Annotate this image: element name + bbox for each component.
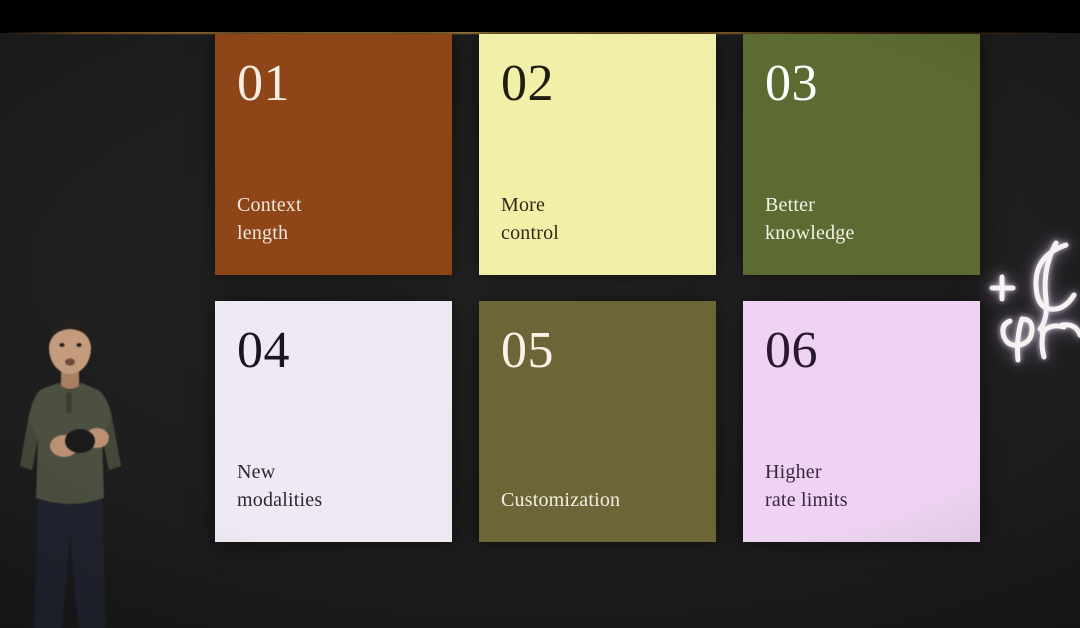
- presenter-trousers: [34, 494, 106, 628]
- presenter-placket: [66, 392, 72, 414]
- feature-card-grid: 01 Context length 02 More control 03 Bet…: [215, 34, 984, 542]
- card-label-05: Customization: [501, 486, 694, 522]
- presenter-right-eye: [76, 343, 81, 347]
- letterbox-top-bar: [0, 0, 1080, 32]
- card-number-02: 02: [501, 58, 694, 110]
- feature-card-05[interactable]: 05 Customization: [479, 301, 716, 542]
- card-label-02: More control: [501, 191, 694, 255]
- feature-card-06[interactable]: 06 Higher rate limits: [743, 301, 980, 542]
- slide-stage: 01 Context length 02 More control 03 Bet…: [0, 0, 1080, 628]
- presenter-mouth: [65, 358, 75, 365]
- presenter-figure: [2, 298, 142, 628]
- presenter-left-eye: [59, 343, 64, 347]
- card-label-03: Better knowledge: [765, 191, 958, 255]
- card-number-05: 05: [501, 325, 694, 377]
- feature-card-02[interactable]: 02 More control: [479, 34, 716, 275]
- card-number-04: 04: [237, 325, 430, 377]
- card-number-01: 01: [237, 58, 430, 110]
- feature-card-04[interactable]: 04 New modalities: [215, 301, 452, 542]
- presenter-clicker: [65, 429, 95, 453]
- card-label-01: Context length: [237, 191, 430, 255]
- card-label-06: Higher rate limits: [765, 458, 958, 522]
- feature-card-01[interactable]: 01 Context length: [215, 34, 452, 275]
- card-label-04: New modalities: [237, 458, 430, 522]
- card-number-03: 03: [765, 58, 958, 110]
- feature-card-03[interactable]: 03 Better knowledge: [743, 34, 980, 275]
- card-number-06: 06: [765, 325, 958, 377]
